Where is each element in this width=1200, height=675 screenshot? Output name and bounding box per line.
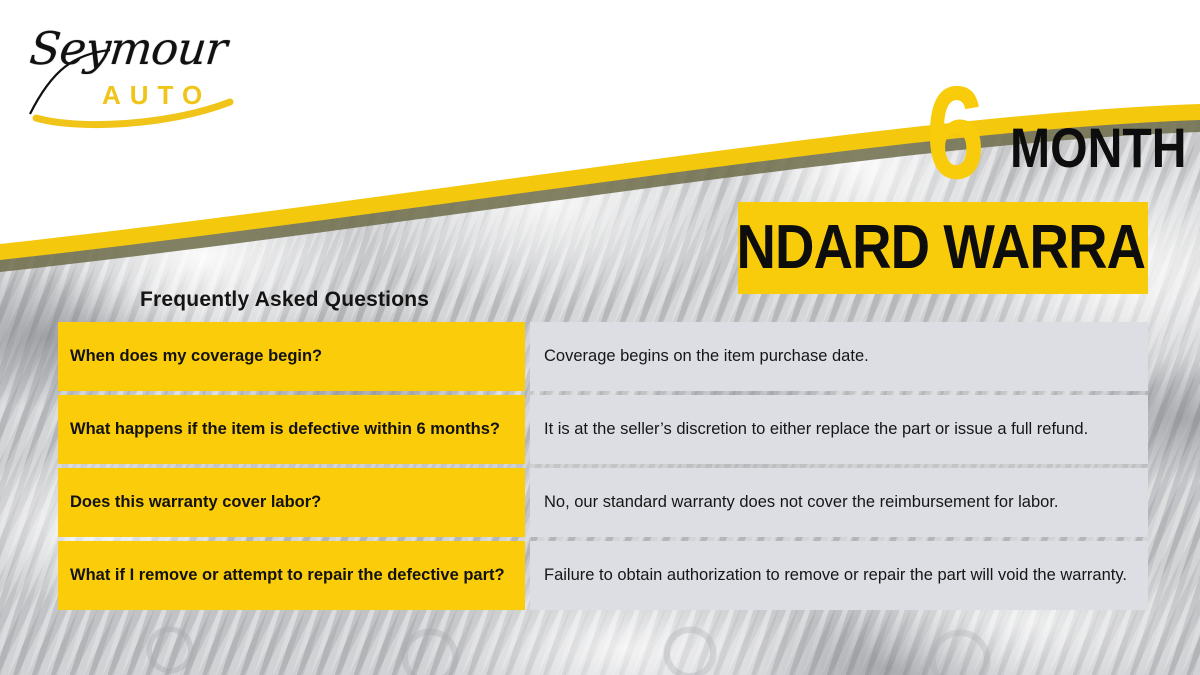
table-row: What if I remove or attempt to repair th… xyxy=(58,541,1148,610)
table-row: What happens if the item is defective wi… xyxy=(58,395,1148,464)
warranty-slide: Seymour AUTO 6 MONTH STANDARD WARRANTY F… xyxy=(0,0,1200,675)
faq-answer-cell: It is at the seller’s discretion to eith… xyxy=(530,395,1148,464)
faq-answer-cell: Coverage begins on the item purchase dat… xyxy=(530,322,1148,391)
table-row: Does this warranty cover labor? No, our … xyxy=(58,468,1148,537)
faq-heading: Frequently Asked Questions xyxy=(140,288,429,312)
faq-answer-cell: Failure to obtain authorization to remov… xyxy=(530,541,1148,610)
faq-question-text: When does my coverage begin? xyxy=(70,346,322,367)
faq-table: When does my coverage begin? Coverage be… xyxy=(58,322,1148,610)
faq-question-cell: Does this warranty cover labor? xyxy=(58,468,525,537)
faq-question-cell: What if I remove or attempt to repair th… xyxy=(58,541,525,610)
seymour-auto-logo: Seymour AUTO xyxy=(18,18,248,133)
faq-answer-text: It is at the seller’s discretion to eith… xyxy=(544,419,1134,441)
table-row: When does my coverage begin? Coverage be… xyxy=(58,322,1148,391)
warranty-title-band: STANDARD WARRANTY xyxy=(738,202,1148,294)
faq-question-text: What happens if the item is defective wi… xyxy=(70,419,500,440)
faq-answer-text: Failure to obtain authorization to remov… xyxy=(544,565,1134,587)
warranty-title-text: STANDARD WARRANTY xyxy=(738,217,1148,279)
duration-number: 6 xyxy=(926,74,982,192)
faq-answer-cell: No, our standard warranty does not cover… xyxy=(530,468,1148,537)
faq-question-text: Does this warranty cover labor? xyxy=(70,492,321,513)
faq-answer-text: No, our standard warranty does not cover… xyxy=(544,492,1134,514)
faq-question-text: What if I remove or attempt to repair th… xyxy=(70,565,505,586)
faq-answer-text: Coverage begins on the item purchase dat… xyxy=(544,346,1134,368)
faq-question-cell: What happens if the item is defective wi… xyxy=(58,395,525,464)
duration-unit-label: MONTH xyxy=(1010,120,1187,176)
logo-underline-swoosh xyxy=(18,18,248,133)
faq-question-cell: When does my coverage begin? xyxy=(58,322,525,391)
